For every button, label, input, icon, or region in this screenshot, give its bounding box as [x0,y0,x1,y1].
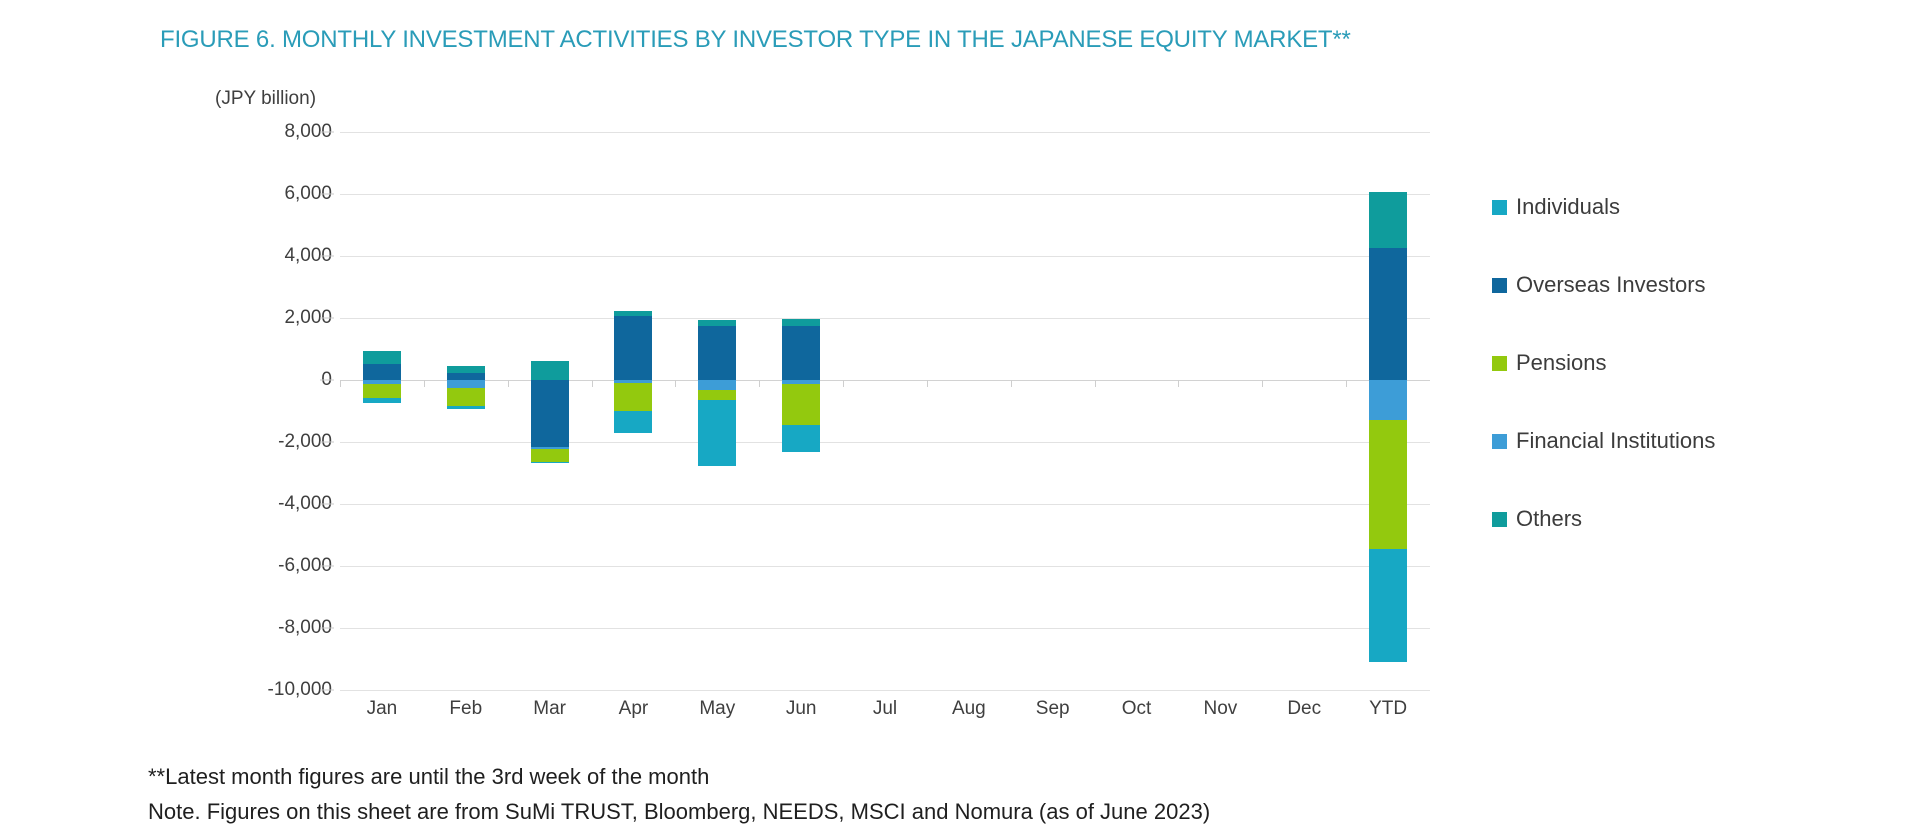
x-axis-tick-mark [927,380,928,387]
bar-segment[interactable] [698,390,736,400]
y-axis-tick-label: 8,000 [212,121,332,143]
x-axis-tick-label: Jul [873,698,897,720]
bar-group[interactable] [698,132,736,690]
bar-segment[interactable] [698,380,736,390]
x-axis-tick-mark [1346,380,1347,387]
bar-segment[interactable] [782,384,820,424]
y-axis-tick-label: -8,000 [212,617,332,639]
bar-segment[interactable] [1369,248,1407,380]
y-axis-tick-mark [320,504,334,505]
gridline [340,318,1430,319]
legend-item[interactable]: Others [1492,480,1892,558]
x-axis-tick-label: Dec [1287,698,1321,720]
legend-swatch-icon [1492,356,1507,371]
legend-swatch-icon [1492,278,1507,293]
legend-item[interactable]: Financial Institutions [1492,402,1892,480]
bar-segment[interactable] [363,364,401,380]
gridline [340,256,1430,257]
y-axis-tick-mark [320,628,334,629]
y-axis-tick-mark [320,194,334,195]
bar-segment[interactable] [1369,549,1407,662]
bar-segment[interactable] [698,320,736,325]
gridline [340,380,1430,381]
y-axis-tick-label: -2,000 [212,431,332,453]
chart-footnotes: **Latest month figures are until the 3rd… [148,760,1548,830]
y-axis-tick-mark [320,442,334,443]
y-axis-tick-label: 0 [212,369,332,391]
legend-swatch-icon [1492,434,1507,449]
x-axis-tick-mark [1095,380,1096,387]
bar-segment[interactable] [698,400,736,466]
legend-swatch-icon [1492,200,1507,215]
bar-segment[interactable] [531,380,569,447]
y-axis-tick-mark [320,380,334,381]
y-axis-unit-label: (JPY billion) [215,88,316,110]
bar-segment[interactable] [1369,380,1407,420]
y-axis-tick-label: 4,000 [212,245,332,267]
legend-swatch-icon [1492,512,1507,527]
bar-segment[interactable] [782,425,820,453]
bar-group[interactable] [531,132,569,690]
gridline [340,442,1430,443]
bar-segment[interactable] [447,380,485,388]
x-axis-tick-mark [675,380,676,387]
legend-item[interactable]: Overseas Investors [1492,246,1892,324]
x-axis-tick-mark [759,380,760,387]
bar-segment[interactable] [447,373,485,380]
gridline [340,690,1430,691]
y-axis-tick-label: 2,000 [212,307,332,329]
x-axis-tick-mark [508,380,509,387]
chart-legend: IndividualsOverseas InvestorsPensionsFin… [1492,168,1892,558]
x-axis-tick-label: Apr [619,698,649,720]
x-axis-tick-label: Jun [786,698,817,720]
gridline [340,194,1430,195]
x-axis-tick-label: May [699,698,735,720]
y-axis-tick-mark [320,256,334,257]
gridline [340,628,1430,629]
x-axis-tick-mark [424,380,425,387]
legend-item[interactable]: Pensions [1492,324,1892,402]
bar-group[interactable] [363,132,401,690]
legend-item-label: Individuals [1516,194,1620,220]
bar-segment[interactable] [1369,192,1407,248]
x-axis-tick-label: Mar [533,698,566,720]
bar-segment[interactable] [363,351,401,363]
bar-segment[interactable] [363,398,401,404]
y-axis-tick-mark [320,566,334,567]
bar-group[interactable] [614,132,652,690]
chart-plot-area: 8,0006,0004,0002,0000-2,000-4,000-6,000-… [340,132,1430,690]
y-axis-tick-label: -4,000 [212,493,332,515]
x-axis-tick-mark [592,380,593,387]
footnote-line: **Latest month figures are until the 3rd… [148,760,1548,795]
bar-group[interactable] [1369,132,1407,690]
x-axis-tick-label: Oct [1122,698,1152,720]
x-axis-tick-mark [340,380,341,387]
x-axis-tick-label: Nov [1203,698,1237,720]
bar-segment[interactable] [531,449,569,463]
bar-segment[interactable] [698,326,736,380]
bar-segment[interactable] [1369,420,1407,549]
y-axis-tick-mark [320,318,334,319]
bar-segment[interactable] [614,311,652,316]
bar-group[interactable] [447,132,485,690]
bar-segment[interactable] [447,406,485,409]
bar-segment[interactable] [614,411,652,433]
x-axis-tick-mark [843,380,844,387]
chart-canvas: 8,0006,0004,0002,0000-2,000-4,000-6,000-… [340,132,1430,690]
y-axis-tick-label: 6,000 [212,183,332,205]
x-axis-tick-label: YTD [1369,698,1407,720]
legend-item-label: Pensions [1516,350,1607,376]
x-axis-tick-label: Jan [367,698,398,720]
gridline [340,566,1430,567]
bar-segment[interactable] [782,319,820,326]
y-axis-tick-mark [320,132,334,133]
x-axis-tick-label: Aug [952,698,986,720]
footnote-line: Note. Figures on this sheet are from SuM… [148,795,1548,830]
x-axis-tick-mark [1178,380,1179,387]
bar-segment[interactable] [782,326,820,380]
legend-item-label: Overseas Investors [1516,272,1706,298]
legend-item-label: Financial Institutions [1516,428,1715,454]
gridline [340,504,1430,505]
x-axis-tick-label: Feb [449,698,482,720]
x-axis-tick-mark [1011,380,1012,387]
bar-segment[interactable] [447,366,485,373]
bar-segment[interactable] [447,388,485,406]
y-axis-tick-label: -6,000 [212,555,332,577]
figure-title: FIGURE 6. MONTHLY INVESTMENT ACTIVITIES … [160,26,1351,54]
legend-item-label: Others [1516,506,1582,532]
gridline [340,132,1430,133]
bar-segment[interactable] [363,384,401,398]
x-axis-tick-label: Sep [1036,698,1070,720]
y-axis-tick-mark [320,690,334,691]
bar-group[interactable] [782,132,820,690]
bar-segment[interactable] [614,316,652,380]
y-axis-tick-label: -10,000 [212,679,332,701]
bar-segment[interactable] [531,361,569,380]
x-axis-tick-mark [1262,380,1263,387]
bar-segment[interactable] [531,462,569,463]
bar-segment[interactable] [614,383,652,410]
legend-item[interactable]: Individuals [1492,168,1892,246]
